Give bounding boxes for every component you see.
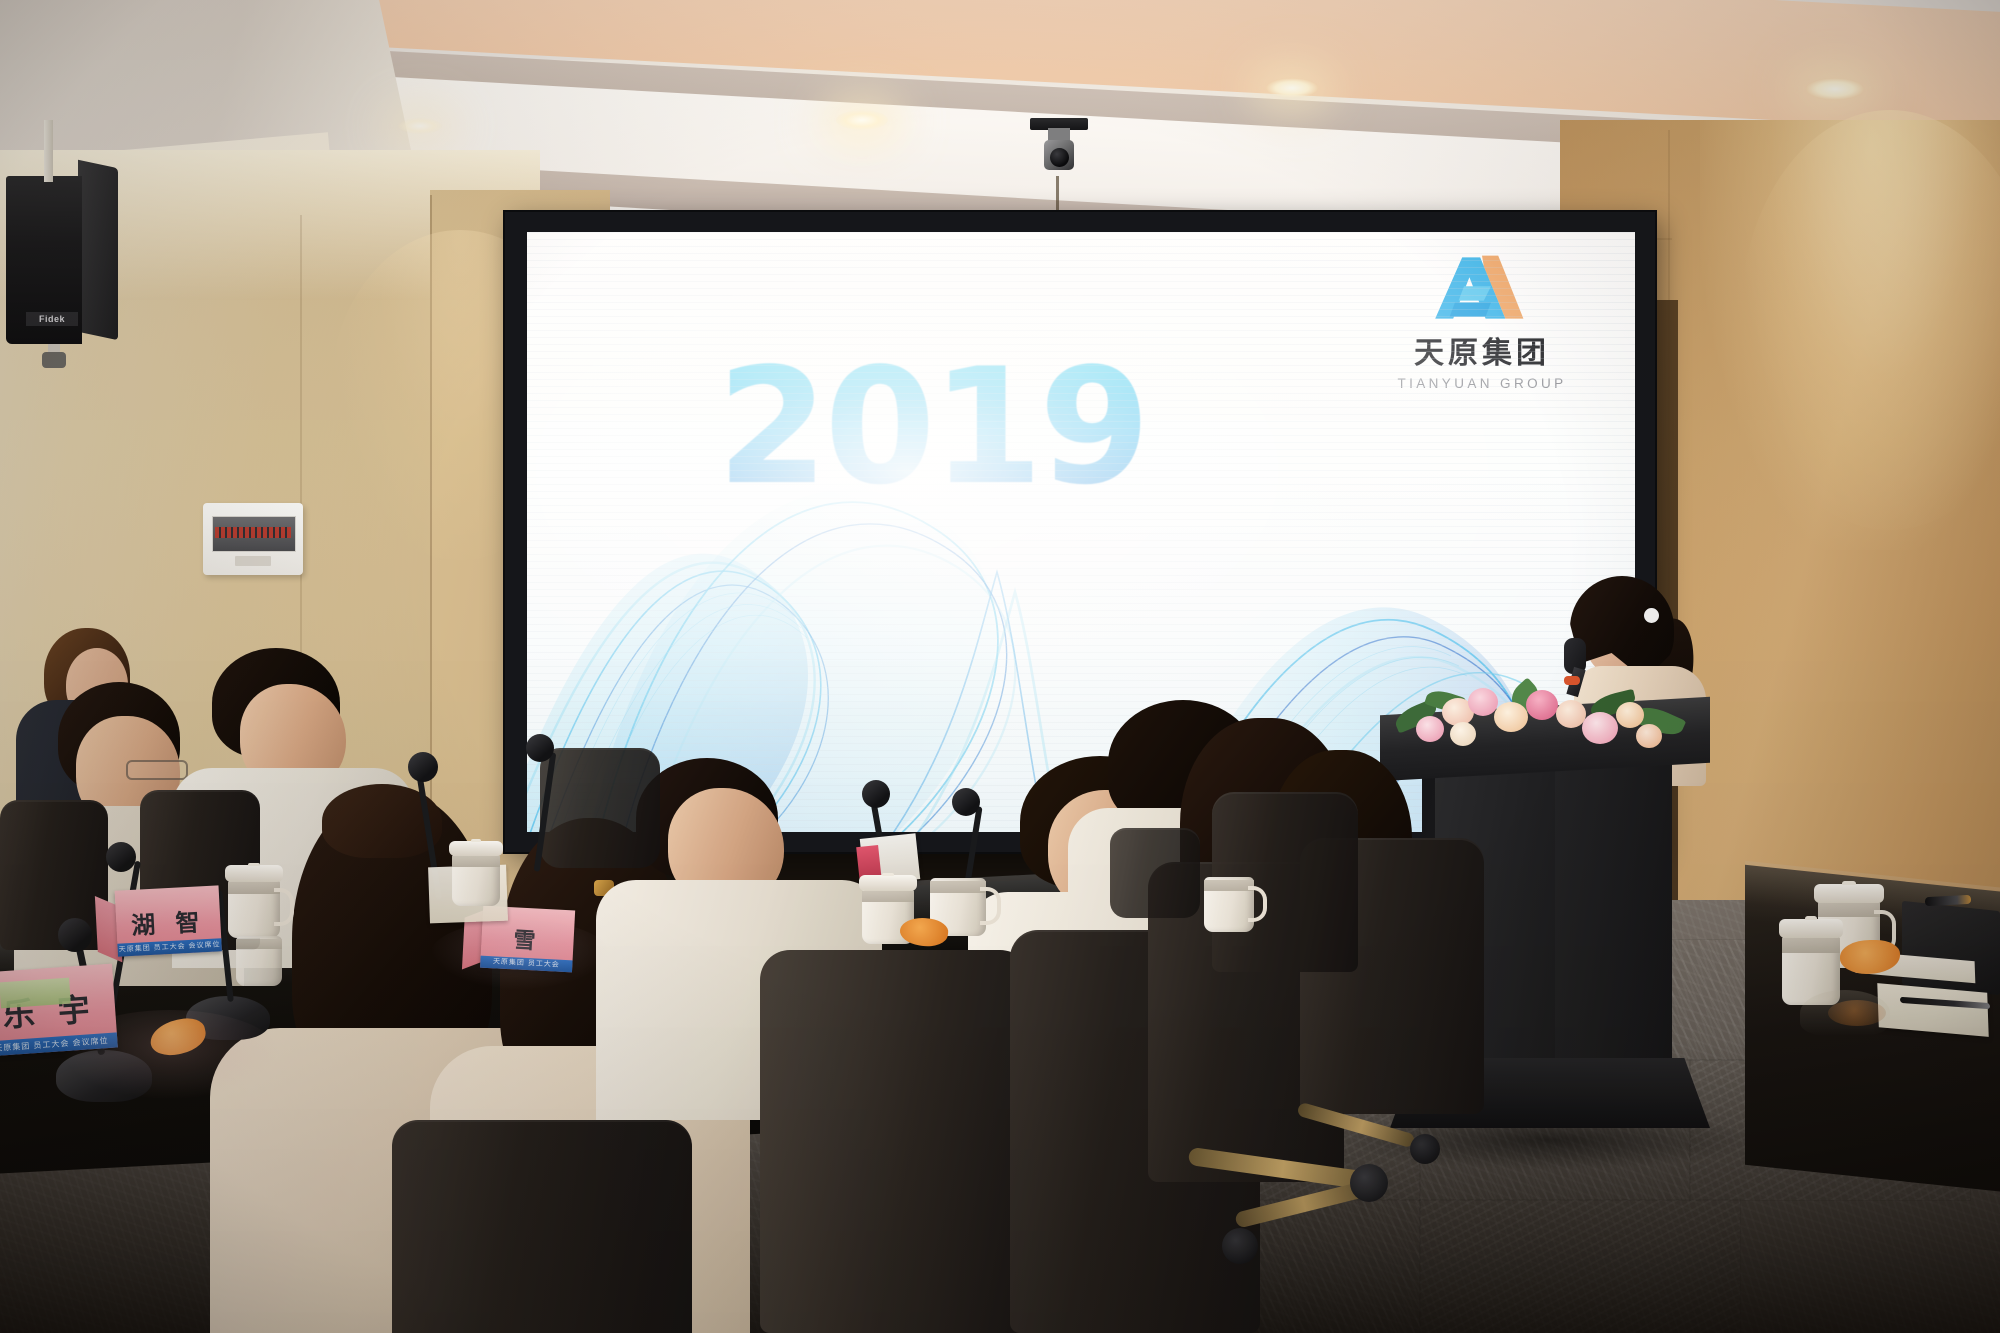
rose (1416, 716, 1444, 742)
microphone-capsule (526, 734, 554, 762)
cup-band (236, 939, 282, 949)
rose (1616, 702, 1644, 728)
rose (1526, 690, 1558, 720)
speaker-brand-label: Fidek (26, 312, 78, 326)
microphone-capsule (106, 842, 136, 872)
chair-caster (1350, 1164, 1388, 1202)
microphone-capsule (862, 780, 890, 808)
name-card-text: 湖 智 (130, 902, 206, 941)
cup-lid (225, 865, 283, 882)
name-card-face: 湖 智 天原集团 员工大会 会议席位 (115, 885, 222, 956)
eyeglasses (126, 760, 188, 780)
cup-lid (449, 841, 503, 856)
microphone-capsule (408, 752, 438, 782)
camera-cable (1056, 176, 1059, 216)
cup-reflection (1800, 990, 1890, 1036)
cup-handle (980, 887, 1001, 925)
tea-cup (236, 922, 282, 986)
tea-cup (452, 838, 500, 906)
wall-speaker: Fidek (6, 176, 112, 344)
cup-knob (248, 863, 260, 866)
speaker-ceiling-pole (44, 120, 53, 182)
downlight-4 (1806, 78, 1864, 100)
logo-text-en: TIANYUAN GROUP (1387, 376, 1577, 391)
office-chair[interactable] (0, 800, 108, 950)
cup-band (862, 891, 914, 903)
microphone-capsule (952, 788, 980, 816)
cup-band (1204, 880, 1254, 891)
table-reflection (60, 1010, 280, 1100)
rose (1636, 724, 1662, 748)
downlight-5 (398, 118, 442, 134)
name-card: 湖 智 天原集团 员工大会 会议席位 (115, 885, 222, 956)
cup-lid (859, 875, 917, 891)
ceiling-camera-icon (1030, 118, 1088, 180)
cup-band (228, 882, 280, 894)
hair-clip (1644, 608, 1659, 623)
table-reflection (430, 920, 610, 990)
cup-knob (882, 873, 894, 876)
conference-room-scene: Fidek (0, 0, 2000, 1333)
office-chair[interactable] (392, 1120, 692, 1333)
downlight-3 (1266, 78, 1318, 98)
chair-caster (1410, 1134, 1440, 1164)
cup-knob (1805, 916, 1818, 920)
panel-label-plate (235, 556, 271, 566)
camera-lens (1050, 148, 1069, 167)
cup-band (930, 881, 986, 893)
year-headline: 2019 (717, 347, 1146, 507)
rose (1468, 688, 1498, 716)
office-chair[interactable] (1110, 828, 1200, 918)
speaker-mount-knuckle (42, 352, 66, 368)
cup-lid (1814, 884, 1883, 903)
cup-handle (274, 888, 294, 926)
tea-cup (1204, 862, 1254, 932)
logo-text-cn: 天原集团 (1387, 328, 1577, 372)
downlight-2 (836, 110, 888, 130)
cup-lid (1779, 919, 1844, 939)
microphone-capsule (58, 918, 92, 952)
cup-knob (1842, 881, 1856, 885)
cup-band (452, 856, 500, 867)
tianyuan-mark-icon (1427, 252, 1537, 324)
cup-band (1782, 938, 1840, 952)
electrical-panel[interactable] (203, 503, 303, 575)
speaker-side-panel (78, 160, 118, 341)
rose (1450, 722, 1476, 746)
panel-breaker-row[interactable] (215, 527, 291, 538)
podium-flower-arrangement (1390, 672, 1690, 762)
rose (1582, 712, 1618, 744)
company-logo: 天原集团 TIANYUAN GROUP (1387, 252, 1577, 382)
office-chair[interactable] (540, 748, 660, 868)
chair-caster (1222, 1228, 1258, 1264)
cup-knob (471, 839, 482, 842)
green-placemat (0, 978, 71, 1009)
cup-handle (1248, 886, 1267, 922)
rose (1494, 702, 1528, 732)
office-chair[interactable] (760, 950, 1030, 1333)
wall-right-light-wash (1700, 120, 2000, 550)
